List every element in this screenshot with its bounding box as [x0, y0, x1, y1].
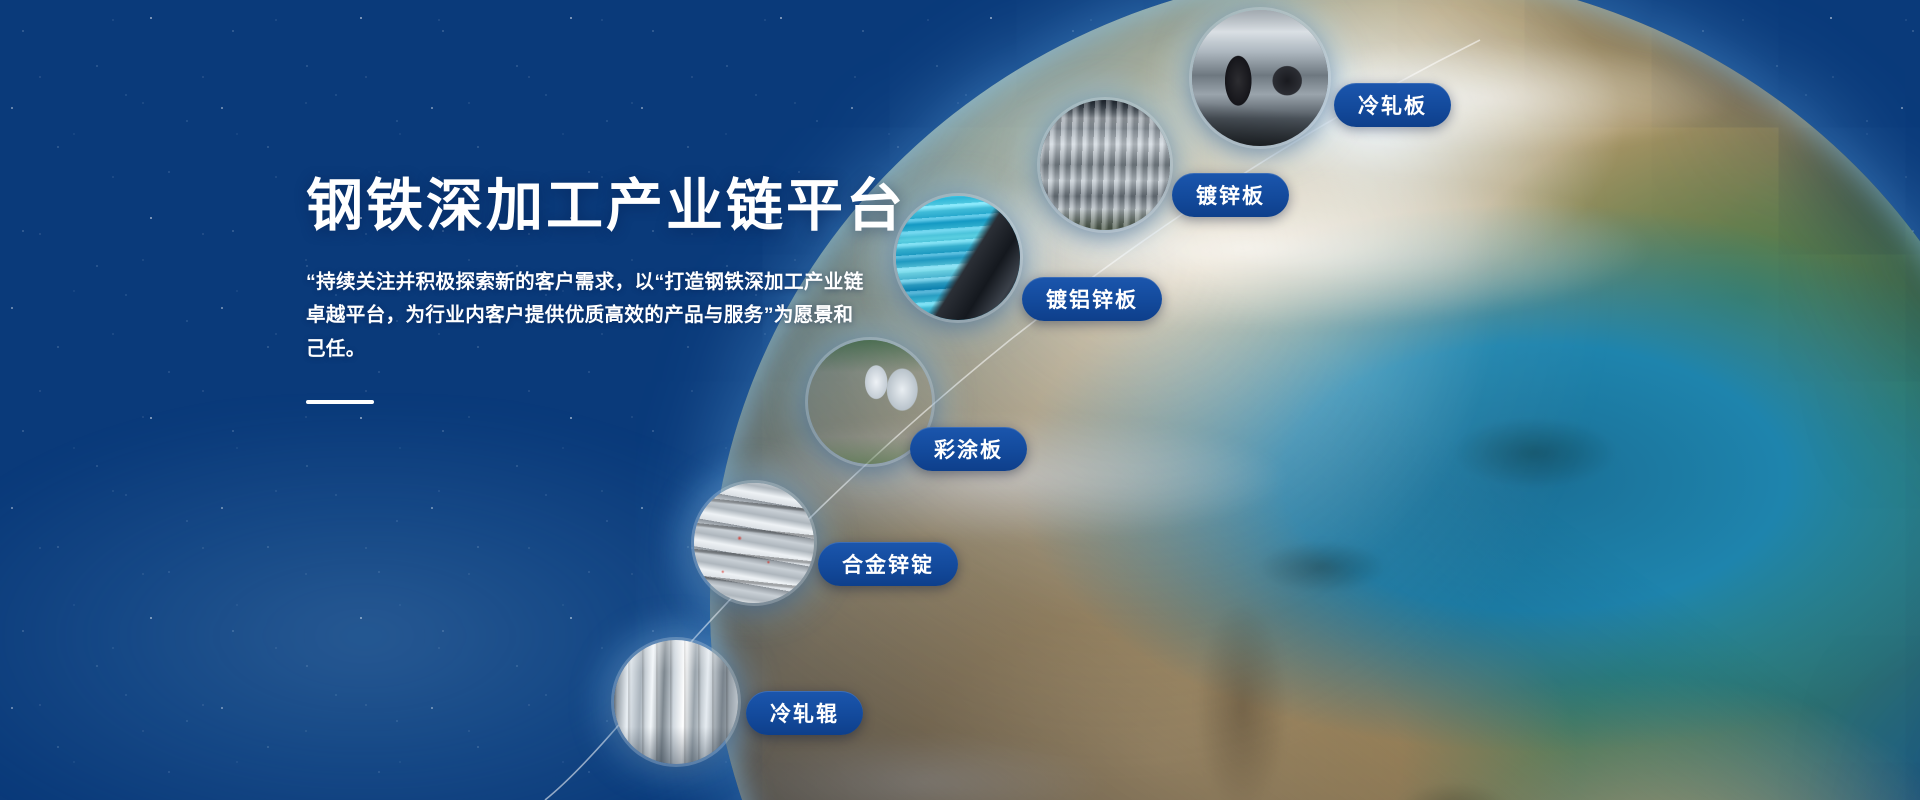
product-thumb-galvanized-sheet[interactable] — [1040, 100, 1170, 230]
product-thumb-cold-rolling-roll[interactable] — [614, 640, 738, 764]
title-divider — [306, 400, 374, 404]
product-label-cold-rolled-sheet[interactable]: 冷轧板 — [1334, 83, 1451, 127]
polished-steel-rolls-icon — [614, 640, 738, 764]
hero-subtitle: “持续关注并积极探索新的客户需求，以“打造钢铁深加工产业链卓越平台，为行业内客户… — [306, 266, 866, 367]
connector-path — [0, 0, 1920, 800]
product-thumb-cold-rolled-sheet[interactable] — [1192, 10, 1328, 146]
page-title: 钢铁深加工产业链平台 — [306, 176, 926, 238]
starfield-layer — [0, 0, 1920, 800]
stacked-metal-ingots-icon — [694, 483, 814, 603]
product-label-aluzinc-sheet[interactable]: 镀铝锌板 — [1022, 277, 1162, 321]
product-label-galvanized-sheet[interactable]: 镀锌板 — [1172, 173, 1289, 217]
steel-coils-dark-icon — [1192, 10, 1328, 146]
hero-copy: 钢铁深加工产业链平台 “持续关注并积极探索新的客户需求，以“打造钢铁深加工产业链… — [306, 176, 926, 404]
product-label-color-coated-sheet[interactable]: 彩涂板 — [910, 427, 1027, 471]
product-label-zinc-alloy-ingot[interactable]: 合金锌锭 — [818, 542, 958, 586]
product-label-cold-rolling-roll[interactable]: 冷轧辊 — [746, 691, 863, 735]
hero-banner: 冷轧板 镀锌板 镀铝锌板 彩涂板 合金锌锭 冷轧辊 钢铁深加工产业链 — [0, 0, 1920, 800]
starfield-layer-second — [0, 0, 1920, 800]
coil-warehouse-icon — [1040, 100, 1170, 230]
product-thumb-zinc-alloy-ingot[interactable] — [694, 483, 814, 603]
